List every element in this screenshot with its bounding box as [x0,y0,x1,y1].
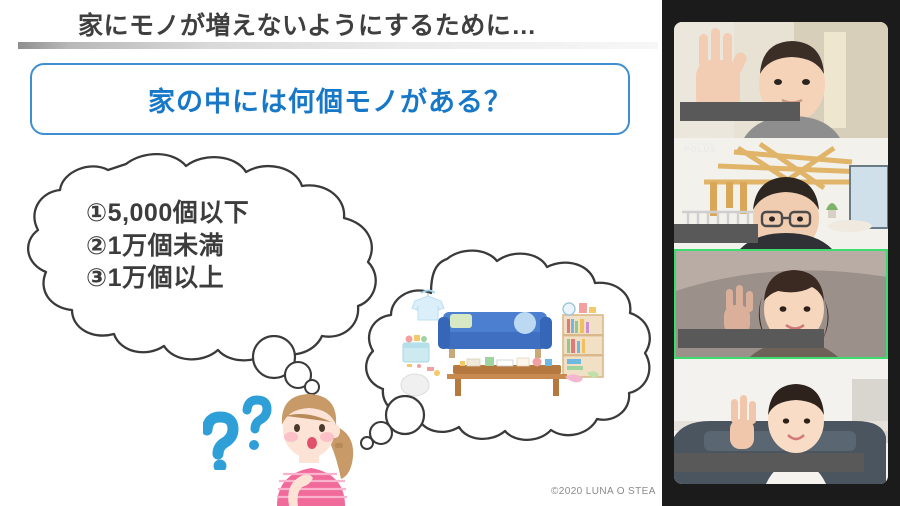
question-text: 家の中には何個モノがある？ [148,80,512,119]
video-conference-panel: THE COMFORT POLUS [662,0,900,506]
option-item: ①5,000個以下 [86,197,249,230]
presentation-screen: 家にモノが増えないようにするために… 家の中には何個モノがある？ ①5,000個… [0,0,900,506]
question-mark-icon [207,417,233,454]
options-list: ①5,000個以下 ②1万個未満 ③1万個以上 [86,197,249,295]
polus-watermark: THE COMFORT POLUS [684,143,717,154]
video-tile-participant-2[interactable]: THE COMFORT POLUS [674,138,888,249]
slide-area: 家にモノが増えないようにするために… 家の中には何個モノがある？ ①5,000個… [0,0,662,506]
raised-hand-icon [730,395,756,449]
waving-hand-icon [724,285,753,335]
video-tile-participant-1[interactable] [674,22,888,138]
watermark-text: POLUS [684,145,717,154]
cluttered-room-illustration [397,281,612,406]
shirt-icon [412,291,444,321]
participant-name-redaction [680,102,800,121]
mouth-icon [307,437,317,449]
coffee-table-icon [447,357,567,396]
participant-name-redaction [674,453,864,472]
sofa-icon [438,312,552,358]
question-box: 家の中には何個モノがある？ [30,63,630,135]
toy-box-icon [403,335,429,368]
option-item: ②1万個未満 [86,230,249,263]
eye-icon [319,424,325,432]
video-tile-participant-4[interactable] [674,359,888,484]
thought-bubble-options: ①5,000個以下 ②1万個未満 ③1万個以上 [8,150,398,380]
option-item: ③1万個以上 [86,262,249,295]
thinking-woman-illustration [255,385,367,506]
thought-bubble-trail-icon [359,395,429,455]
slide-title: 家にモノが増えないようにするために… [78,6,537,42]
copyright-notice: ©2020 LUNA O STEA [551,486,656,497]
title-divider [18,42,658,49]
eye-icon [294,424,300,432]
question-mark-dot-icon [214,460,227,471]
video-tile-participant-3[interactable] [674,249,888,359]
thought-bubble-room [355,245,655,460]
participant-name-redaction [674,224,758,243]
cushion-icon [401,374,429,396]
participant-name-redaction [678,329,824,348]
bookshelf-icon [563,303,603,377]
